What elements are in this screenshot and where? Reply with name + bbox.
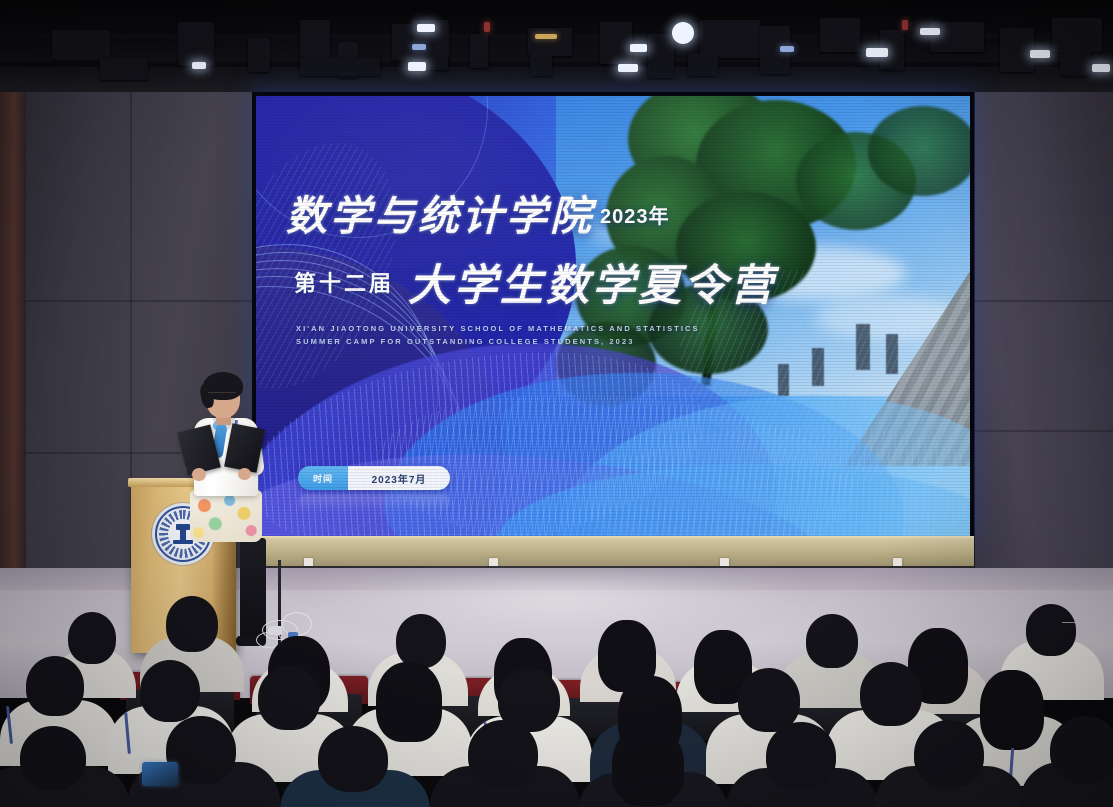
stage-lamp-glow — [902, 20, 908, 30]
stage-lamp-glow — [1030, 50, 1050, 58]
ceiling-truss-area — [0, 0, 1113, 92]
stage-light-fixture — [648, 34, 674, 78]
right-wall-panel — [972, 60, 1113, 620]
audience-head — [68, 612, 116, 664]
stage-lamp-glow — [192, 62, 206, 69]
audience-head — [26, 656, 84, 716]
stage-light-fixture — [600, 22, 632, 64]
stage-lamp-glow — [618, 64, 638, 72]
left-wall-trim — [0, 60, 26, 620]
screen-year-label: 2023年 — [600, 200, 670, 229]
audience-head — [914, 720, 984, 788]
wall-seam — [972, 300, 1113, 302]
stage-light-fixture — [688, 54, 718, 76]
stage-light-fixture — [530, 52, 552, 76]
stage-light-fixture — [700, 20, 760, 58]
stage-lamp-glow — [535, 34, 557, 39]
cable-connector — [268, 626, 282, 635]
audience-head — [806, 614, 858, 668]
stage-lamp-glow — [866, 48, 888, 57]
info-pill-value: 2023年7月 — [348, 466, 450, 490]
stage-light-fixture — [52, 30, 110, 60]
info-pill-reflection — [298, 494, 450, 512]
stage-lamp-glow — [920, 28, 940, 35]
wall-seam — [972, 430, 1113, 432]
audience-head — [766, 722, 836, 790]
audience-head — [140, 660, 200, 722]
screen-english-line-2: SUMMER CAMP FOR OUTSTANDING COLLEGE STUD… — [296, 337, 635, 346]
stage-light-fixture — [300, 58, 380, 76]
stage-lamp-glow — [417, 24, 435, 32]
led-screen[interactable]: 数学与统计学院 2023年 第十二届 大学生数学夏令营 XI'AN JIAOTO… — [256, 96, 970, 536]
auditorium-photo: 数学与统计学院 2023年 第十二届 大学生数学夏令营 XI'AN JIAOTO… — [0, 0, 1113, 807]
audience-head — [318, 726, 388, 792]
stage-lamp-glow — [1092, 64, 1110, 72]
stage-lamp-glow — [630, 44, 647, 52]
stage-front-band — [252, 540, 974, 568]
stage-light-fixture — [300, 20, 330, 60]
audience-head — [860, 662, 922, 726]
smartphone[interactable] — [142, 762, 178, 786]
speaker-glasses-icon — [208, 392, 236, 400]
stage-lamp-glow — [408, 62, 426, 71]
stage-light-fixture — [248, 38, 270, 72]
floor-light-sheen — [300, 575, 820, 645]
eyeglasses-icon — [1062, 622, 1084, 628]
audience-head-long-hair — [980, 670, 1044, 750]
stage-light-fixture — [100, 58, 148, 80]
speaker-floral-skirt — [190, 490, 262, 542]
info-pill-key: 时间 — [298, 466, 348, 490]
audience-head — [258, 666, 320, 730]
emblem-anvil-base — [173, 540, 193, 544]
stage-light-fixture — [1000, 28, 1034, 72]
stage-lamp-glow — [484, 22, 490, 32]
screen-edition-badge: 第十二届 — [294, 266, 394, 298]
stage-lamp-glow — [412, 44, 426, 50]
screen-english-line-1: XI'AN JIAOTONG UNIVERSITY SCHOOL OF MATH… — [296, 324, 700, 333]
audience-head — [468, 720, 538, 788]
stage-light-fixture — [178, 22, 214, 66]
screen-sub-title: 大学生数学夏令营 — [408, 251, 776, 313]
audience-head — [166, 596, 218, 652]
stage-light-fixture — [820, 18, 860, 52]
screen-main-title: 数学与统计学院 — [286, 182, 594, 242]
stage-light-fixture — [470, 34, 488, 68]
stage-lamp-glow — [780, 46, 794, 52]
audience-head — [1050, 716, 1113, 784]
speaker-left-hand — [192, 468, 206, 481]
audience-head — [20, 726, 86, 790]
stage-lamp-glow — [672, 22, 694, 44]
audience-head — [396, 614, 446, 668]
stage-light-fixture — [930, 22, 984, 52]
stage-light-fixture — [1060, 50, 1090, 76]
audience-head-long-hair — [612, 726, 684, 806]
tree-canopy — [868, 106, 970, 196]
speaker-right-hand — [238, 468, 251, 480]
audience-head-long-hair — [376, 662, 442, 742]
audience-head — [1026, 604, 1076, 656]
screen-info-pill: 时间 2023年7月 — [298, 466, 450, 490]
stage-light-fixture — [1052, 18, 1102, 52]
